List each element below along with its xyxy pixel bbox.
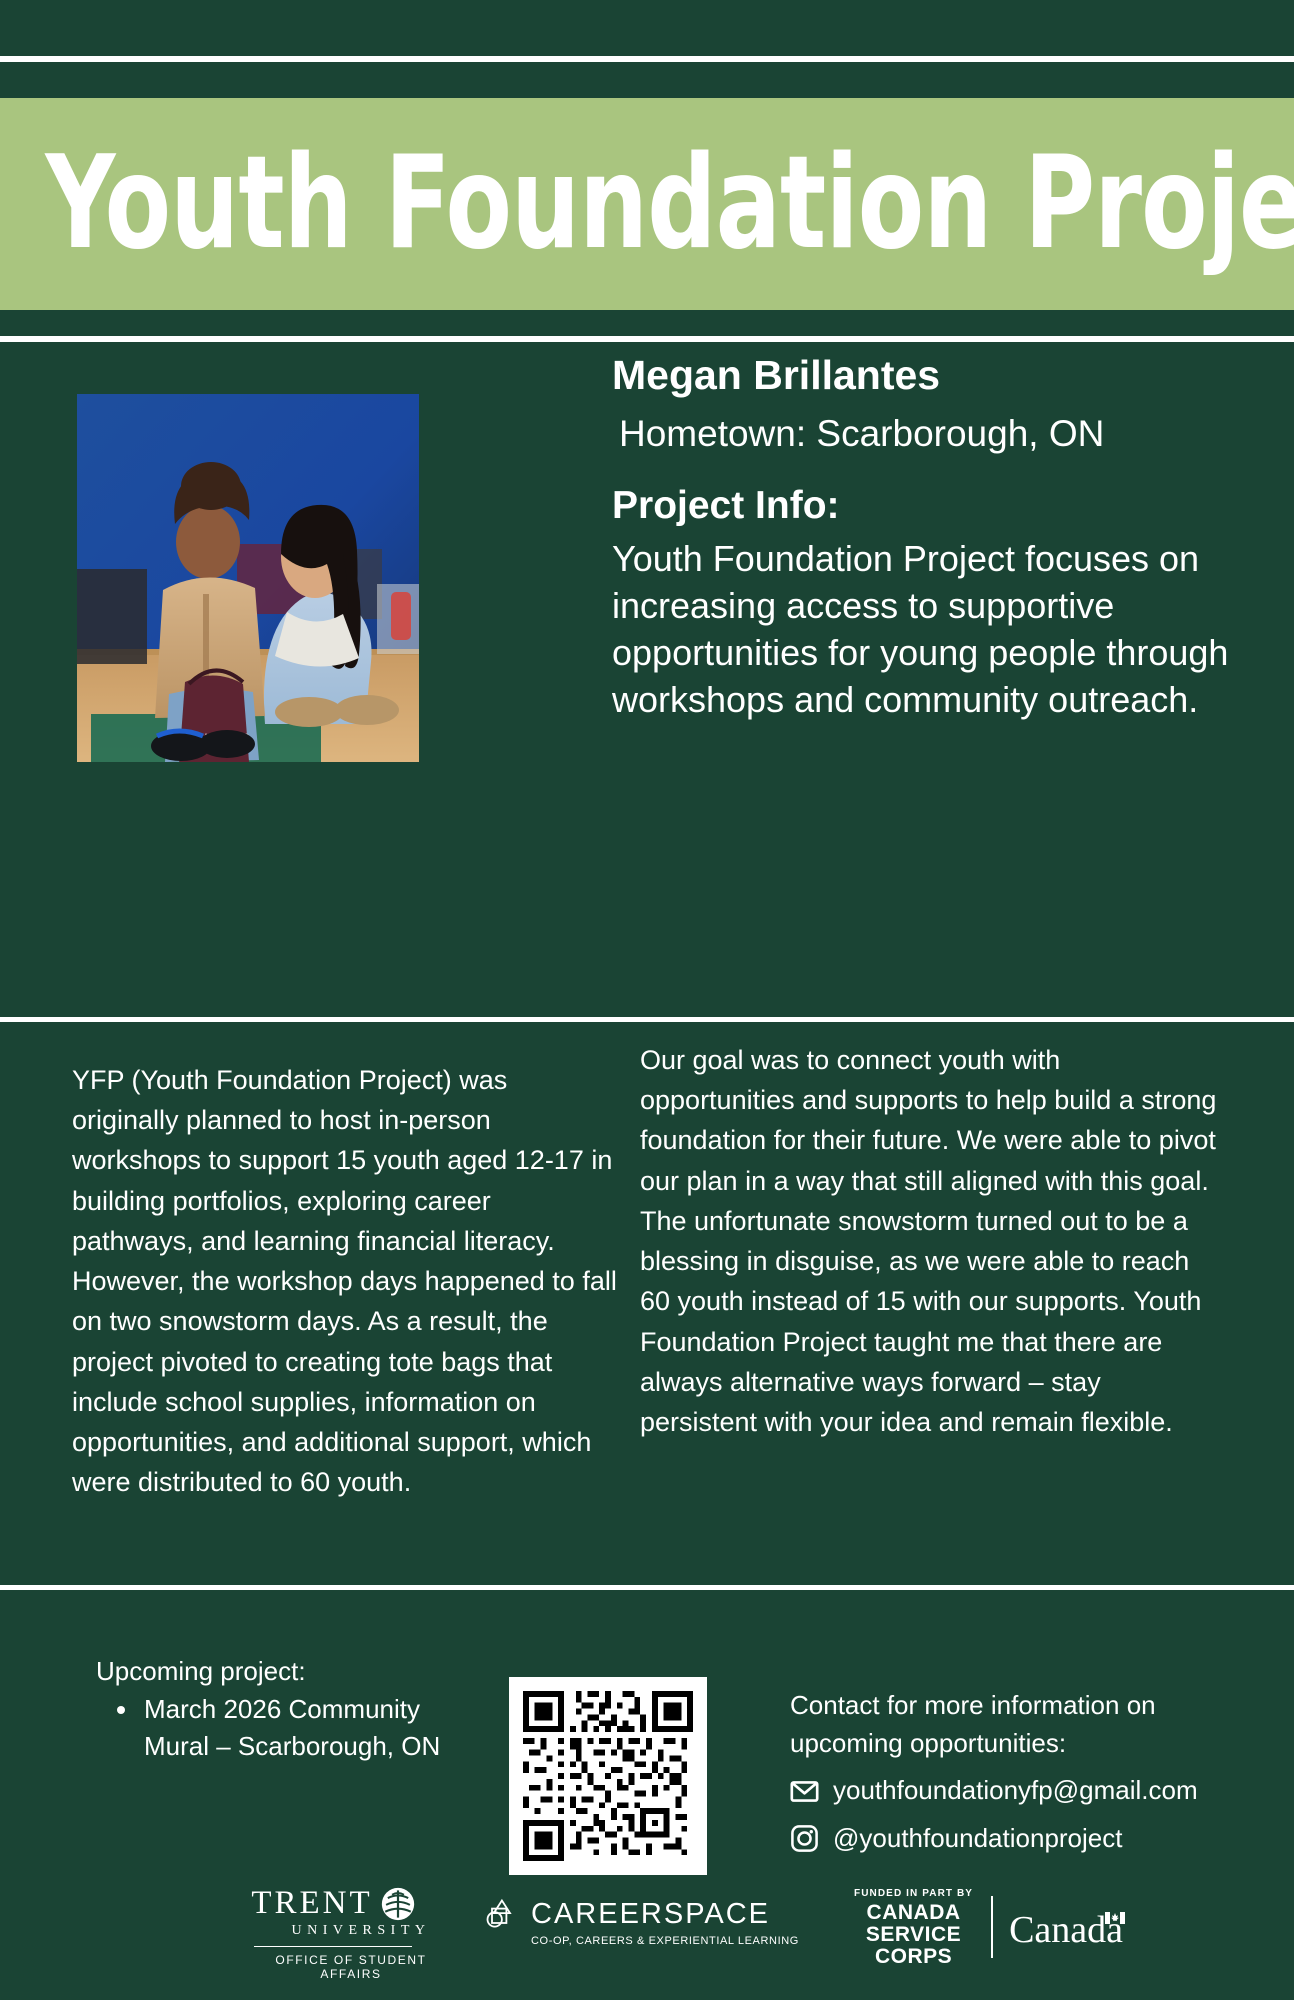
bio-section: ATHLETICS Megan Brillantes Hometown: Sca… (0, 342, 1294, 1017)
bio-text-block: Megan Brillantes Hometown: Scarborough, … (612, 342, 1252, 724)
upcoming-project-heading: Upcoming project: (96, 1653, 486, 1691)
poster-root: Youth Foundation Project (0, 0, 1294, 2000)
project-photo: ATHLETICS (77, 394, 419, 762)
header-top-band (0, 0, 1294, 56)
csc-line-3: CORPS (854, 1946, 973, 1968)
canada-service-corps-logo: FUNDED IN PART BY CANADA SERVICE CORPS C… (854, 1888, 1123, 1967)
canada-wordmark: Canada (1009, 1908, 1123, 1952)
trent-wordmark: TRENT (251, 1885, 372, 1922)
email-icon (790, 1777, 819, 1806)
trent-office-line: OFFICE OF STUDENT AFFAIRS (218, 1953, 448, 1981)
list-item: March 2026 Community Mural – Scarborough… (140, 1691, 486, 1766)
header-lower-band (0, 62, 1294, 98)
trent-logo-main: TRENT (218, 1885, 448, 1922)
careerspace-logo: CAREERSPACE CO-OP, CAREERS & EXPERIENTIA… (483, 1896, 799, 1947)
project-info-label: Project Info: (612, 483, 1252, 530)
trent-university-word: UNIVERSITY (218, 1923, 448, 1939)
narrative-column-left: YFP (Youth Foundation Project) was origi… (72, 1060, 617, 1502)
careerspace-wordmark: CAREERSPACE (531, 1898, 770, 1931)
contact-email-row[interactable]: youthfoundationyfp@gmail.com (790, 1772, 1210, 1810)
contact-instagram: @youthfoundationproject (833, 1820, 1122, 1858)
sponsor-logos: TRENT UNIVERSITY OFFICE OF S (0, 1880, 1294, 1990)
project-info-body: Youth Foundation Project focuses on incr… (612, 536, 1232, 723)
careerspace-tagline: CO-OP, CAREERS & EXPERIENTIAL LEARNING (483, 1935, 799, 1947)
qr-code[interactable] (509, 1677, 707, 1875)
contact-heading: Contact for more information on upcoming… (790, 1687, 1210, 1762)
instagram-icon (790, 1824, 819, 1853)
contact-instagram-row[interactable]: @youthfoundationproject (790, 1820, 1210, 1858)
careerspace-logo-main: CAREERSPACE (483, 1896, 799, 1932)
upcoming-project-list: March 2026 Community Mural – Scarborough… (96, 1691, 486, 1766)
csc-separator (991, 1896, 993, 1958)
contact-block: Contact for more information on upcoming… (790, 1687, 1210, 1858)
footer-section: Upcoming project: March 2026 Community M… (0, 1590, 1294, 2000)
canada-flag-icon (1105, 1912, 1125, 1924)
page-title: Youth Foundation Project (0, 140, 1294, 268)
title-banner: Youth Foundation Project (0, 98, 1294, 310)
csc-funded-line: FUNDED IN PART BY (854, 1888, 973, 1899)
narrative-column-right: Our goal was to connect youth with oppor… (640, 1040, 1220, 1442)
csc-line-2: SERVICE (854, 1924, 973, 1946)
trent-tree-icon (381, 1887, 415, 1921)
person-hometown: Hometown: Scarborough, ON (612, 410, 1252, 457)
csc-line-1: CANADA (854, 1902, 973, 1924)
careerspace-shapes-icon (483, 1896, 519, 1932)
contact-email: youthfoundationyfp@gmail.com (833, 1772, 1198, 1810)
csc-text-block: FUNDED IN PART BY CANADA SERVICE CORPS (854, 1888, 973, 1967)
narrative-section: YFP (Youth Foundation Project) was origi… (0, 1022, 1294, 1585)
trent-logo-divider (254, 1946, 412, 1947)
upcoming-project-block: Upcoming project: March 2026 Community M… (96, 1653, 486, 1766)
trent-university-logo: TRENT UNIVERSITY OFFICE OF S (218, 1885, 448, 1981)
person-name: Megan Brillantes (612, 351, 1252, 400)
